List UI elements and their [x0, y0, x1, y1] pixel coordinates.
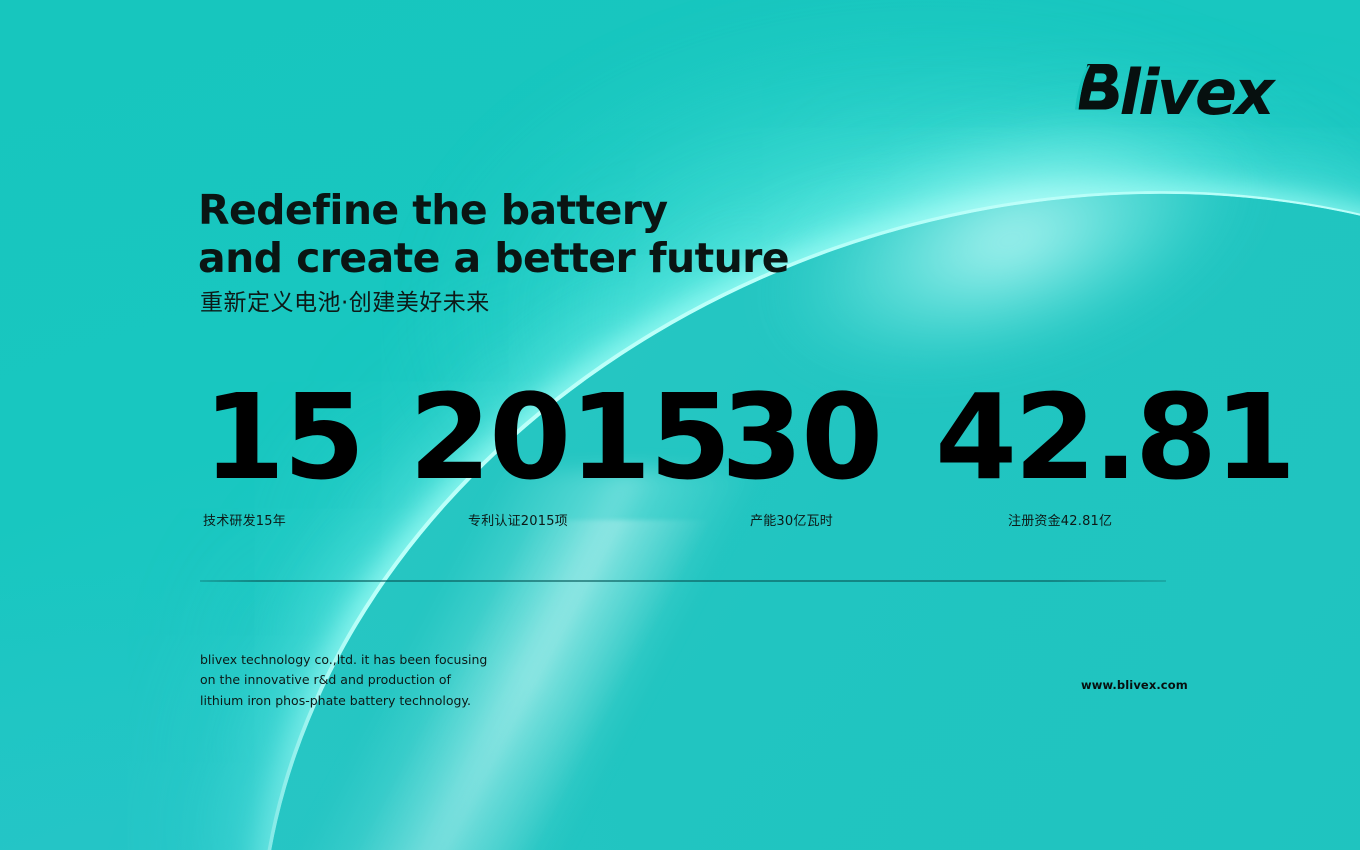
company-description: blivex technology co.,ltd. it has been f…	[200, 650, 492, 711]
stat-label: 技术研发15年	[203, 510, 286, 529]
stat-item: 42.81 注册资金42.81亿	[935, 398, 1180, 518]
stat-value: 42.81	[935, 389, 1293, 486]
section-divider	[200, 580, 1166, 582]
stat-label: 注册资金42.81亿	[1008, 510, 1112, 529]
stat-item: 30 产能30亿瓦时	[721, 398, 931, 518]
poster-canvas: livex Redefine the battery and create a …	[0, 0, 1360, 850]
stat-item: 2015 专利认证2015项	[409, 398, 669, 518]
stat-value: 15	[203, 389, 363, 486]
stat-item: 15 技术研发15年	[203, 398, 413, 518]
stat-value: 30	[721, 389, 881, 486]
stats-row: 15 技术研发15年 2015 专利认证2015项 30 产能30亿瓦时 42.…	[0, 0, 1360, 850]
stat-label: 产能30亿瓦时	[750, 510, 833, 529]
stat-label: 专利认证2015项	[468, 510, 568, 529]
stat-value: 2015	[409, 389, 729, 486]
website-url[interactable]: www.blivex.com	[1081, 678, 1188, 692]
